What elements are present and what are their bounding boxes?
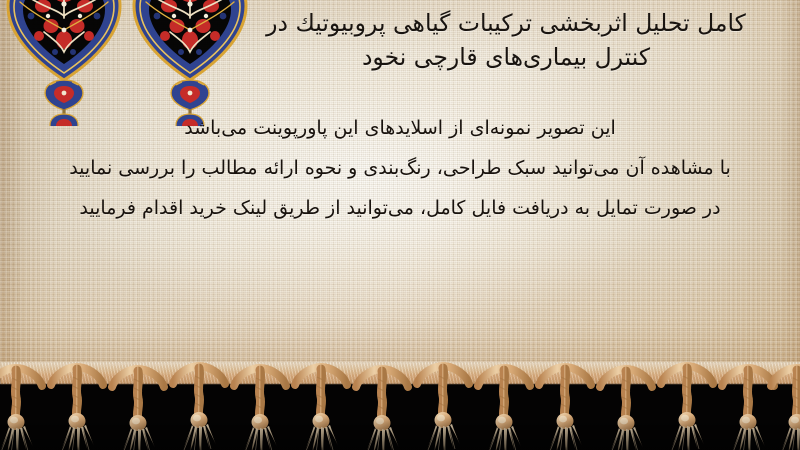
- body-line-1: این تصویر نمونه‌ای از اسلایدهای این پاور…: [0, 108, 800, 148]
- slide-title-line-1: کامل تحلیل اثربخشی ترکیبات گیاهی پروبیوت…: [226, 6, 786, 40]
- slide-title: کامل تحلیل اثربخشی ترکیبات گیاهی پروبیوت…: [226, 6, 786, 74]
- carpet-fringe: [0, 362, 800, 450]
- presentation-slide: کامل تحلیل اثربخشی ترکیبات گیاهی پروبیوت…: [0, 0, 800, 450]
- body-line-3: در صورت تمایل به دریافت فایل کامل، می‌تو…: [0, 188, 800, 228]
- body-line-2: با مشاهده آن می‌توانید سبک طراحی، رنگ‌بن…: [0, 148, 800, 188]
- slide-body: این تصویر نمونه‌ای از اسلایدهای این پاور…: [0, 108, 800, 228]
- tassel-row: [0, 366, 800, 450]
- slide-title-line-2: کنترل بیماری‌های قارچی نخود: [226, 40, 786, 74]
- fringe-tassels-svg: [0, 362, 800, 450]
